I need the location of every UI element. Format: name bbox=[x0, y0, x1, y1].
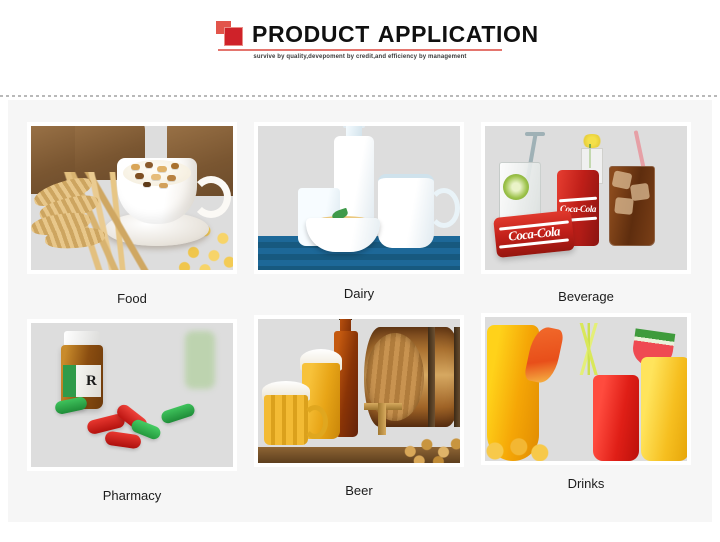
card-photo-frame bbox=[254, 315, 464, 467]
cereal-flake-icon bbox=[145, 162, 153, 168]
pharmacy-photo: R bbox=[31, 323, 233, 467]
barrel-hoop-icon bbox=[428, 327, 435, 427]
title-block: PRODUCTAPPLICATION survive by quality,de… bbox=[216, 20, 504, 48]
beer-photo bbox=[258, 319, 460, 463]
product-card-label: Dairy bbox=[254, 286, 464, 302]
card-photo-frame: Coca-Cola Coca-Cola bbox=[481, 122, 691, 274]
green-capsule-icon bbox=[54, 396, 88, 415]
fruit-garnish-icon bbox=[485, 433, 551, 461]
card-photo-frame bbox=[481, 313, 691, 465]
product-card-label: Food bbox=[27, 291, 237, 307]
background-blur-icon bbox=[185, 331, 215, 389]
food-photo bbox=[31, 126, 233, 270]
product-card-pharmacy[interactable]: R Pharmacy bbox=[27, 319, 237, 504]
card-photo-frame bbox=[254, 122, 464, 274]
barrel-hoop-icon bbox=[454, 327, 460, 427]
bottle-label-green-band-icon bbox=[63, 365, 76, 397]
title-underline-rule bbox=[218, 49, 502, 51]
title-primary: PRODUCT bbox=[252, 21, 370, 47]
yellow-juice-glass-icon bbox=[641, 357, 687, 461]
ice-cube-icon bbox=[614, 197, 634, 215]
card-photo-frame bbox=[27, 122, 237, 274]
red-capsule-icon bbox=[104, 431, 142, 450]
cereal-flake-icon bbox=[167, 175, 176, 181]
beverage-photo: Coca-Cola Coca-Cola bbox=[485, 126, 687, 270]
barrel-tap-icon bbox=[378, 403, 386, 435]
page-title: PRODUCTAPPLICATION bbox=[252, 21, 539, 47]
cereal-flake-icon bbox=[157, 166, 167, 172]
content-panel: Food bbox=[8, 100, 712, 522]
product-card-dairy[interactable]: Dairy bbox=[254, 122, 464, 302]
card-photo-frame: R bbox=[27, 319, 237, 471]
green-capsule-icon bbox=[160, 402, 196, 425]
product-card-drinks[interactable]: Drinks bbox=[481, 313, 691, 492]
barley-grain-icon bbox=[400, 431, 460, 463]
product-card-beverage[interactable]: Coca-Cola Coca-Cola Beverage bbox=[481, 122, 691, 305]
dairy-photo bbox=[258, 126, 460, 270]
cereal-flake-icon bbox=[151, 174, 161, 180]
cereal-flake-icon bbox=[171, 163, 179, 169]
cereal-flake-icon bbox=[131, 164, 140, 170]
mug-handle-icon bbox=[302, 405, 328, 439]
lime-slice-icon bbox=[503, 174, 529, 200]
yellow-flower-icon bbox=[581, 134, 603, 148]
product-card-label: Beer bbox=[254, 483, 464, 499]
rx-letter-text: R bbox=[86, 370, 100, 392]
title-secondary: APPLICATION bbox=[378, 21, 539, 47]
title-row: PRODUCTAPPLICATION bbox=[216, 20, 504, 48]
pineapple-leaf-icon bbox=[569, 323, 609, 375]
ice-cube-icon bbox=[630, 183, 650, 201]
product-card-label: Drinks bbox=[481, 476, 691, 492]
product-card-beer[interactable]: Beer bbox=[254, 315, 464, 499]
slide-root: PRODUCTAPPLICATION survive by quality,de… bbox=[0, 0, 720, 542]
product-card-label: Beverage bbox=[481, 289, 691, 305]
product-card-label: Pharmacy bbox=[27, 488, 237, 504]
red-juice-glass-icon bbox=[593, 375, 639, 461]
slogan-subtitle: survive by quality,devepoment by credit,… bbox=[216, 54, 504, 60]
jug-handle-icon bbox=[428, 188, 460, 228]
logo-square-front-icon bbox=[224, 27, 243, 46]
product-application-grid: Food bbox=[8, 100, 712, 522]
two-red-squares-logo-icon bbox=[216, 21, 246, 47]
cereal-flake-icon bbox=[159, 183, 168, 188]
slide-header: PRODUCTAPPLICATION survive by quality,de… bbox=[0, 0, 720, 96]
cup-handle-icon bbox=[191, 176, 231, 218]
milk-jug-icon bbox=[378, 174, 434, 248]
header-dotted-divider bbox=[0, 95, 720, 97]
product-card-food[interactable]: Food bbox=[27, 122, 237, 307]
drinks-photo bbox=[485, 317, 687, 461]
